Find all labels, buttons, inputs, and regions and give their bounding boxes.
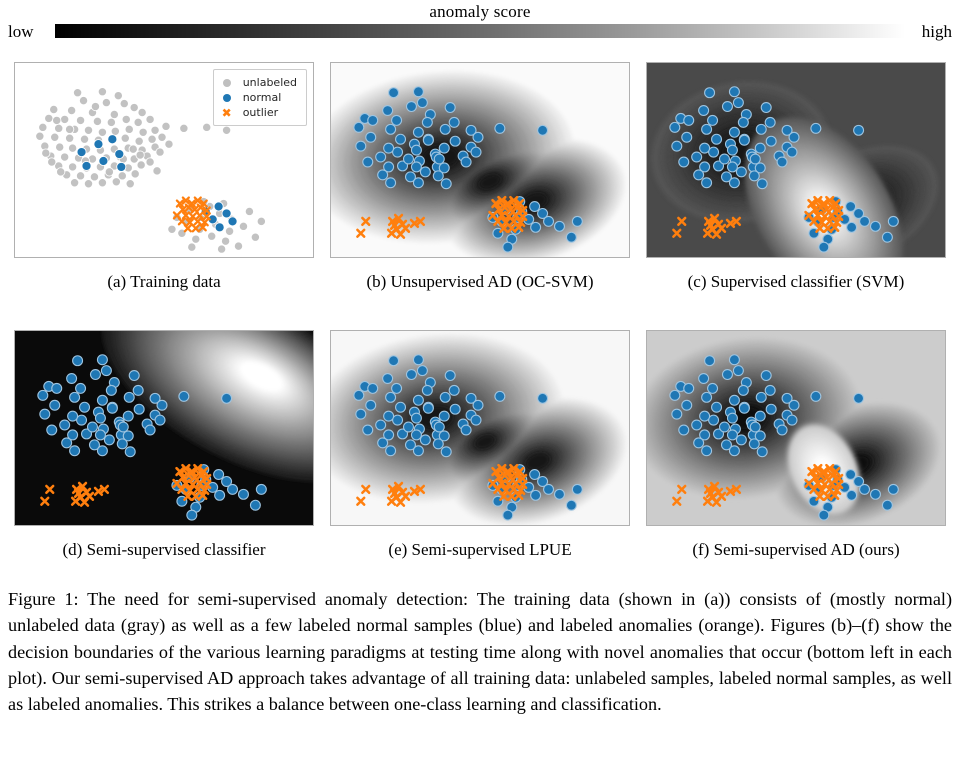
data-point — [99, 156, 108, 165]
data-point — [538, 125, 548, 135]
data-point — [129, 371, 139, 381]
data-point — [214, 202, 223, 211]
data-point — [471, 147, 481, 157]
data-point — [179, 391, 189, 401]
data-point — [736, 435, 746, 445]
data-point — [105, 168, 113, 176]
data-point — [225, 227, 233, 235]
data-point — [413, 395, 423, 405]
data-point — [777, 157, 787, 167]
data-point — [168, 225, 176, 233]
data-point — [94, 140, 103, 149]
data-point — [70, 392, 80, 402]
data-point — [739, 403, 749, 413]
data-point — [111, 127, 119, 135]
normal-marker-icon — [220, 94, 234, 102]
data-point — [727, 413, 737, 423]
data-point — [417, 366, 427, 376]
figure-root: anomaly score low high unlabeled normal … — [0, 0, 960, 760]
data-point — [672, 409, 682, 419]
data-point — [566, 232, 576, 242]
data-point — [157, 400, 167, 410]
data-point — [155, 415, 165, 425]
data-point — [214, 470, 224, 480]
data-point — [846, 202, 856, 212]
data-point — [555, 221, 565, 231]
data-point — [750, 422, 760, 432]
data-point — [531, 222, 541, 232]
data-point — [133, 385, 143, 395]
data-point — [441, 179, 451, 189]
data-point — [134, 404, 144, 414]
data-point — [389, 356, 399, 366]
data-point — [79, 96, 87, 104]
data-point — [67, 106, 75, 114]
legend-item-outlier: ✖ outlier — [220, 105, 297, 120]
data-point — [180, 124, 188, 132]
data-point — [672, 141, 682, 151]
data-point — [787, 415, 797, 425]
data-point — [729, 178, 739, 188]
data-point — [84, 180, 92, 188]
data-point — [215, 490, 225, 500]
data-point — [766, 136, 776, 146]
panel-a-caption: (a) Training data — [14, 272, 314, 292]
data-point — [187, 510, 197, 520]
data-point — [42, 149, 50, 157]
data-point — [700, 411, 710, 421]
panel-d-plot — [15, 331, 313, 525]
data-point — [702, 446, 712, 456]
colorbar: anomaly score low high — [0, 0, 960, 50]
data-point — [727, 430, 737, 440]
data-point — [694, 170, 704, 180]
data-point — [727, 145, 737, 155]
data-point — [684, 383, 694, 393]
data-point — [461, 157, 471, 167]
data-point — [450, 136, 460, 146]
panel-e-caption: (e) Semi-supervised LPUE — [330, 540, 630, 560]
data-point — [124, 392, 134, 402]
panel-c-plot — [647, 63, 945, 257]
data-point — [137, 161, 145, 169]
data-point — [39, 123, 47, 131]
data-point — [203, 123, 211, 131]
data-point — [722, 102, 732, 112]
data-point — [366, 400, 376, 410]
data-point — [108, 135, 117, 144]
data-point — [720, 422, 730, 432]
panel-b-plot — [331, 63, 629, 257]
data-point — [354, 390, 364, 400]
data-point — [819, 242, 829, 252]
data-point — [538, 393, 548, 403]
data-point — [566, 500, 576, 510]
data-point — [439, 143, 449, 153]
data-point — [114, 92, 122, 100]
data-point — [733, 98, 743, 108]
data-point — [386, 124, 396, 134]
data-point — [146, 115, 154, 123]
data-point — [76, 116, 84, 124]
data-point — [104, 435, 114, 445]
data-point — [722, 370, 732, 380]
data-point — [461, 425, 471, 435]
data-point — [682, 132, 692, 142]
data-point — [847, 222, 857, 232]
data-point — [80, 402, 90, 412]
data-point — [97, 395, 107, 405]
data-point — [729, 446, 739, 456]
legend-item-normal: normal — [220, 90, 297, 105]
data-point — [117, 162, 126, 171]
data-point — [90, 370, 100, 380]
data-point — [692, 152, 702, 162]
data-point — [702, 178, 712, 188]
panel-a-training-data: unlabeled normal ✖ outlier — [14, 62, 314, 258]
data-point — [729, 87, 739, 97]
data-point — [51, 133, 59, 141]
data-point — [145, 425, 155, 435]
legend-label-outlier: outlier — [243, 105, 278, 120]
data-point — [121, 134, 129, 142]
data-point — [97, 446, 107, 456]
data-point — [530, 202, 540, 212]
data-point — [396, 402, 406, 412]
data-point — [70, 179, 78, 187]
data-point — [882, 500, 892, 510]
data-point — [65, 125, 73, 133]
data-point — [130, 103, 138, 111]
data-point — [123, 411, 133, 421]
data-point — [727, 162, 737, 172]
data-point — [749, 439, 759, 449]
data-point — [91, 102, 99, 110]
data-point — [239, 489, 249, 499]
data-point — [118, 422, 128, 432]
data-point — [449, 117, 459, 127]
data-point — [473, 132, 483, 142]
panel-f-plot — [647, 331, 945, 525]
data-point — [217, 245, 225, 253]
data-point — [93, 117, 101, 125]
data-point — [413, 446, 423, 456]
data-point — [708, 383, 718, 393]
data-point — [738, 385, 748, 395]
data-point — [757, 179, 767, 189]
data-point — [73, 89, 81, 97]
data-point — [699, 106, 709, 116]
data-point — [366, 132, 376, 142]
data-point — [120, 99, 128, 107]
data-point — [84, 126, 92, 134]
data-point — [228, 484, 238, 494]
data-point — [404, 422, 414, 432]
data-point — [245, 207, 253, 215]
data-point — [363, 157, 373, 167]
data-point — [670, 390, 680, 400]
data-point — [705, 356, 715, 366]
data-point — [208, 232, 216, 240]
unlabeled-marker-icon — [220, 79, 234, 87]
data-point — [376, 152, 386, 162]
legend: unlabeled normal ✖ outlier — [213, 69, 307, 126]
data-point — [102, 98, 110, 106]
data-point — [57, 168, 65, 176]
data-point — [110, 110, 118, 118]
panel-e-plot — [331, 331, 629, 525]
data-point — [503, 242, 513, 252]
data-point — [98, 128, 106, 136]
data-point — [544, 216, 554, 226]
data-point — [871, 489, 881, 499]
data-point — [60, 153, 68, 161]
data-point — [555, 489, 565, 499]
data-point — [694, 438, 704, 448]
data-point — [98, 179, 106, 187]
data-point — [411, 430, 421, 440]
data-point — [62, 438, 72, 448]
panel-f-caption: (f) Semi-supervised AD (ours) — [646, 540, 946, 560]
colorbar-high-label: high — [922, 22, 952, 42]
data-point — [670, 122, 680, 132]
data-point — [188, 243, 196, 251]
colorbar-low-label: low — [8, 22, 34, 42]
data-point — [406, 370, 416, 380]
data-point — [738, 117, 748, 127]
data-point — [148, 135, 156, 143]
data-point — [495, 391, 505, 401]
data-point — [712, 402, 722, 412]
data-point — [77, 148, 86, 157]
data-point — [420, 167, 430, 177]
data-point — [384, 411, 394, 421]
data-point — [811, 123, 821, 133]
data-point — [136, 151, 144, 159]
data-point — [860, 216, 870, 226]
data-point — [699, 374, 709, 384]
panel-c-supervised-classifier — [646, 62, 946, 258]
data-point — [90, 173, 98, 181]
panel-c-caption: (c) Supervised classifier (SVM) — [646, 272, 946, 292]
data-point — [392, 115, 402, 125]
data-point — [787, 147, 797, 157]
data-point — [440, 392, 450, 402]
data-point — [82, 161, 91, 170]
data-point — [68, 163, 76, 171]
data-point — [53, 116, 61, 124]
data-point — [378, 170, 388, 180]
panel-f-semisupervised-ad-ours — [646, 330, 946, 526]
data-point — [413, 127, 423, 137]
data-point — [682, 400, 692, 410]
data-point — [45, 114, 53, 122]
data-point — [60, 115, 68, 123]
data-point — [368, 115, 378, 125]
data-point — [156, 148, 164, 156]
data-point — [52, 383, 62, 393]
data-point — [757, 447, 767, 457]
data-point — [50, 400, 60, 410]
data-point — [729, 395, 739, 405]
data-point — [422, 117, 432, 127]
data-point — [413, 87, 423, 97]
data-point — [756, 124, 766, 134]
data-point — [368, 383, 378, 393]
data-point — [708, 115, 718, 125]
data-point — [777, 425, 787, 435]
data-point — [765, 385, 775, 395]
data-point — [48, 158, 56, 166]
data-point — [386, 392, 396, 402]
panel-d-semisupervised-classifier — [14, 330, 314, 526]
data-point — [222, 126, 230, 134]
data-point — [165, 140, 173, 148]
data-point — [441, 447, 451, 457]
data-point — [406, 102, 416, 112]
data-point — [70, 446, 80, 456]
data-point — [67, 374, 77, 384]
data-point — [411, 145, 421, 155]
data-point — [761, 371, 771, 381]
data-point — [125, 125, 133, 133]
data-point — [56, 143, 64, 151]
data-point — [146, 158, 154, 166]
data-point — [445, 103, 455, 113]
data-point — [356, 141, 366, 151]
data-point — [38, 390, 48, 400]
data-point — [392, 383, 402, 393]
data-point — [417, 98, 427, 108]
data-point — [97, 355, 107, 365]
data-point — [354, 122, 364, 132]
data-point — [692, 420, 702, 430]
data-point — [192, 235, 200, 243]
data-point — [384, 143, 394, 153]
data-point — [789, 132, 799, 142]
data-point — [256, 484, 266, 494]
data-point — [376, 420, 386, 430]
data-point — [720, 154, 730, 164]
data-point — [257, 217, 265, 225]
data-point — [445, 371, 455, 381]
colorbar-gradient — [55, 24, 905, 38]
data-point — [440, 124, 450, 134]
data-point — [503, 510, 513, 520]
data-point — [434, 154, 444, 164]
data-point — [215, 223, 224, 232]
data-point — [131, 170, 139, 178]
data-point — [396, 134, 406, 144]
data-point — [122, 115, 130, 123]
data-point — [221, 237, 229, 245]
data-point — [411, 413, 421, 423]
data-point — [386, 178, 396, 188]
data-point — [572, 484, 582, 494]
data-point — [860, 484, 870, 494]
legend-label-unlabeled: unlabeled — [243, 75, 297, 90]
panel-e-semisupervised-lpue — [330, 330, 630, 526]
data-point — [819, 510, 829, 520]
data-point — [228, 217, 237, 226]
data-point — [239, 222, 247, 230]
data-point — [125, 447, 135, 457]
data-point — [729, 355, 739, 365]
data-point — [755, 411, 765, 421]
data-point — [888, 484, 898, 494]
data-point — [433, 171, 443, 181]
data-point — [530, 470, 540, 480]
data-point — [888, 216, 898, 226]
data-point — [761, 103, 771, 113]
data-point — [389, 88, 399, 98]
data-point — [450, 404, 460, 414]
data-point — [40, 409, 50, 419]
data-point — [88, 422, 98, 432]
panel-b-caption: (b) Unsupervised AD (OC-SVM) — [330, 272, 630, 292]
data-point — [117, 439, 127, 449]
data-point — [107, 118, 115, 126]
data-point — [413, 355, 423, 365]
data-point — [222, 393, 232, 403]
legend-item-unlabeled: unlabeled — [220, 75, 297, 90]
data-point — [433, 439, 443, 449]
data-point — [702, 392, 712, 402]
data-point — [95, 430, 105, 440]
data-point — [413, 178, 423, 188]
data-point — [80, 135, 88, 143]
data-point — [138, 108, 146, 116]
data-point — [854, 125, 864, 135]
figure-caption: Figure 1: The need for semi-supervised a… — [8, 586, 952, 717]
data-point — [733, 366, 743, 376]
legend-label-normal: normal — [243, 90, 282, 105]
data-point — [750, 154, 760, 164]
data-point — [854, 393, 864, 403]
data-point — [766, 404, 776, 414]
data-point — [129, 145, 137, 153]
data-point — [107, 403, 117, 413]
data-point — [544, 484, 554, 494]
data-point — [434, 422, 444, 432]
data-point — [158, 133, 166, 141]
data-point — [712, 134, 722, 144]
data-point — [420, 435, 430, 445]
data-point — [115, 150, 124, 159]
data-point — [153, 167, 161, 175]
data-point — [383, 374, 393, 384]
data-point — [139, 128, 147, 136]
data-point — [76, 172, 84, 180]
data-point — [65, 134, 73, 142]
data-point — [439, 411, 449, 421]
data-point — [871, 221, 881, 231]
data-point — [679, 425, 689, 435]
data-point — [473, 400, 483, 410]
data-point — [134, 118, 142, 126]
data-point — [106, 385, 116, 395]
data-point — [749, 171, 759, 181]
data-point — [471, 415, 481, 425]
data-point — [679, 157, 689, 167]
data-point — [73, 356, 83, 366]
data-point — [739, 135, 749, 145]
data-point — [162, 122, 170, 130]
data-point — [112, 178, 120, 186]
data-point — [95, 413, 105, 423]
data-point — [126, 180, 134, 188]
data-point — [700, 143, 710, 153]
